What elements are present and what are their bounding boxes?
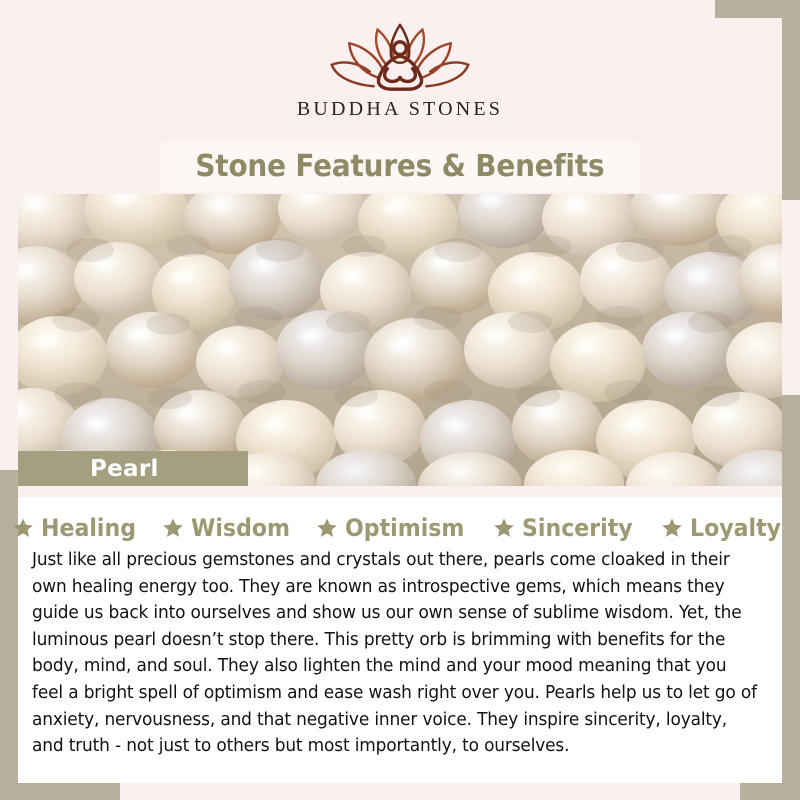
frame-band-right-lower — [782, 395, 800, 800]
stone-name: Pearl — [90, 456, 159, 482]
keyword-label: Loyalty — [690, 514, 781, 542]
keyword-healing: Healing — [12, 514, 144, 542]
brand-wordmark: BUDDHA STONES — [297, 98, 503, 121]
keyword-label: Optimism — [345, 514, 464, 542]
stone-description: Just like all precious gemstones and cry… — [32, 547, 759, 760]
lotus-meditation-icon — [325, 18, 475, 96]
star-icon — [493, 517, 515, 539]
frame-band-bottom-right — [740, 782, 800, 800]
keyword-label: Wisdom — [191, 514, 290, 542]
keyword-loyalty: Loyalty — [661, 514, 789, 542]
star-icon — [316, 517, 338, 539]
star-icon — [661, 517, 683, 539]
benefit-keywords: Healing Wisdom Optimism Sincerity — [18, 497, 782, 542]
infographic-page: BUDDHA STONES Stone Features & Benefits — [0, 0, 800, 800]
brand-logo: BUDDHA STONES — [0, 18, 800, 138]
keyword-sincerity: Sincerity — [493, 514, 642, 542]
keyword-label: Sincerity — [522, 514, 633, 542]
title-banner: Stone Features & Benefits — [162, 143, 638, 190]
content-panel: Healing Wisdom Optimism Sincerity — [18, 497, 782, 783]
stone-name-bar: Pearl — [18, 451, 248, 486]
star-icon — [12, 517, 34, 539]
keyword-optimism: Optimism — [316, 514, 475, 542]
stone-photo — [18, 194, 782, 486]
keyword-wisdom: Wisdom — [162, 514, 299, 542]
page-title: Stone Features & Benefits — [196, 149, 605, 184]
star-icon — [162, 517, 184, 539]
frame-band-bottom-left — [0, 782, 120, 800]
keyword-label: Healing — [41, 514, 136, 542]
